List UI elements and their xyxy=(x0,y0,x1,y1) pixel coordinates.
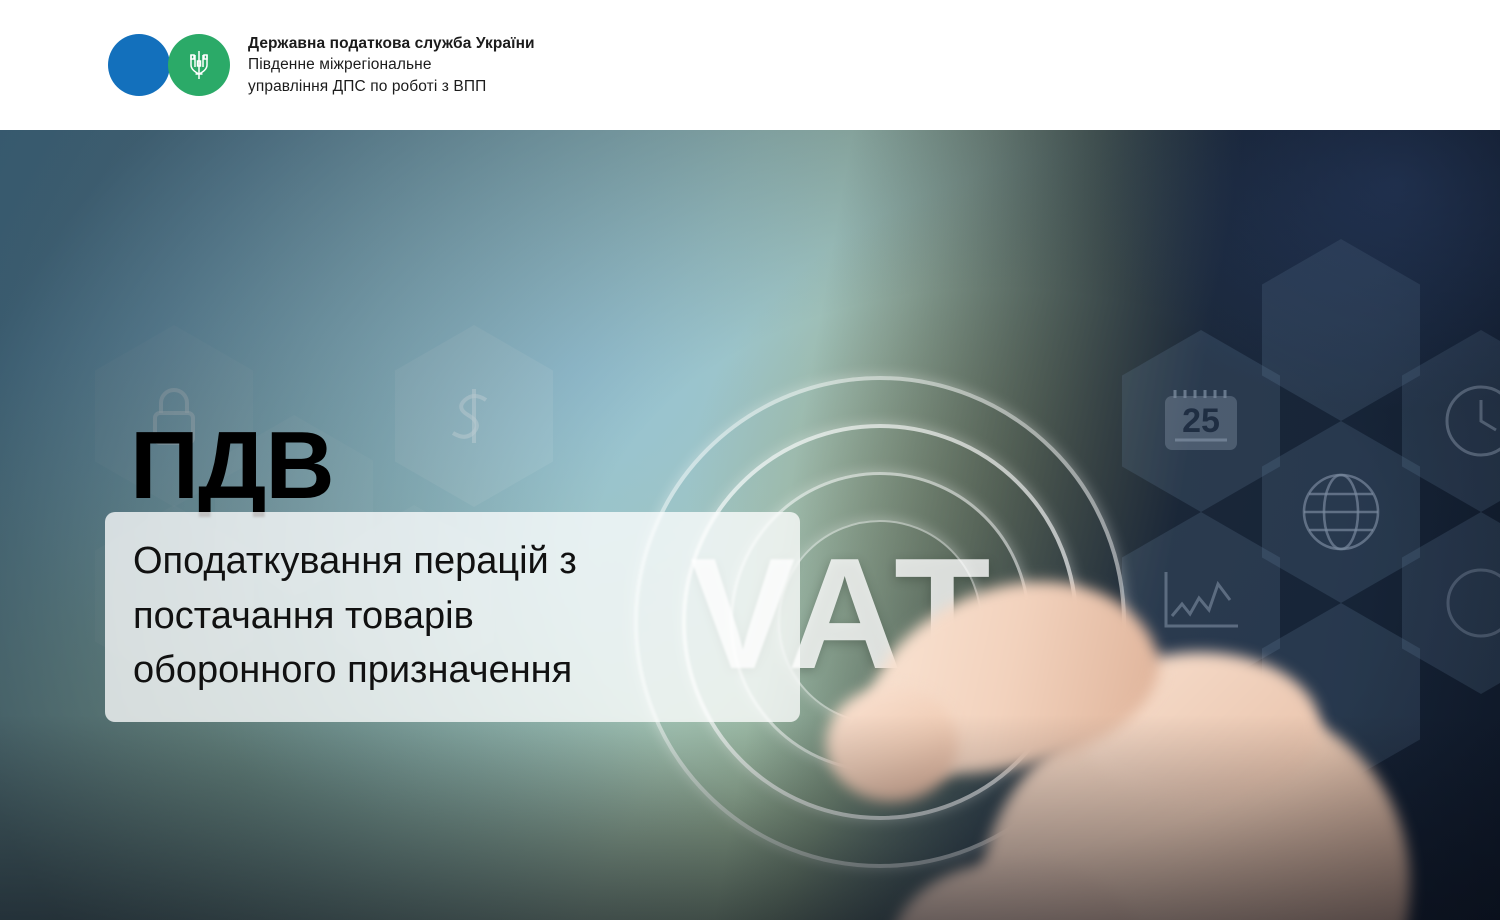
logo-green-circle-icon xyxy=(168,34,230,96)
subtitle-line-1: Оподаткування перацій з xyxy=(133,534,772,589)
organization-logo[interactable] xyxy=(108,34,230,96)
page-root: Державна податкова служба України Півден… xyxy=(0,0,1500,920)
org-line-2: Південне міжрегіональне xyxy=(248,54,535,75)
hero-banner: 25 xyxy=(0,130,1500,920)
page-title: ПДВ xyxy=(130,418,334,514)
subtitle-line-2: постачання товарів xyxy=(133,589,772,644)
organization-name-block: Державна податкова служба України Півден… xyxy=(248,33,535,97)
site-header: Державна податкова служба України Півден… xyxy=(0,0,1500,130)
org-line-3: управління ДПС по роботі з ВПП xyxy=(248,76,535,97)
ukraine-trident-icon xyxy=(186,48,212,82)
subtitle-panel: Оподаткування перацій з постачання товар… xyxy=(105,512,800,722)
org-line-1: Державна податкова служба України xyxy=(248,33,535,54)
logo-blue-circle-icon xyxy=(108,34,170,96)
subtitle-line-3: оборонного призначення xyxy=(133,643,772,698)
